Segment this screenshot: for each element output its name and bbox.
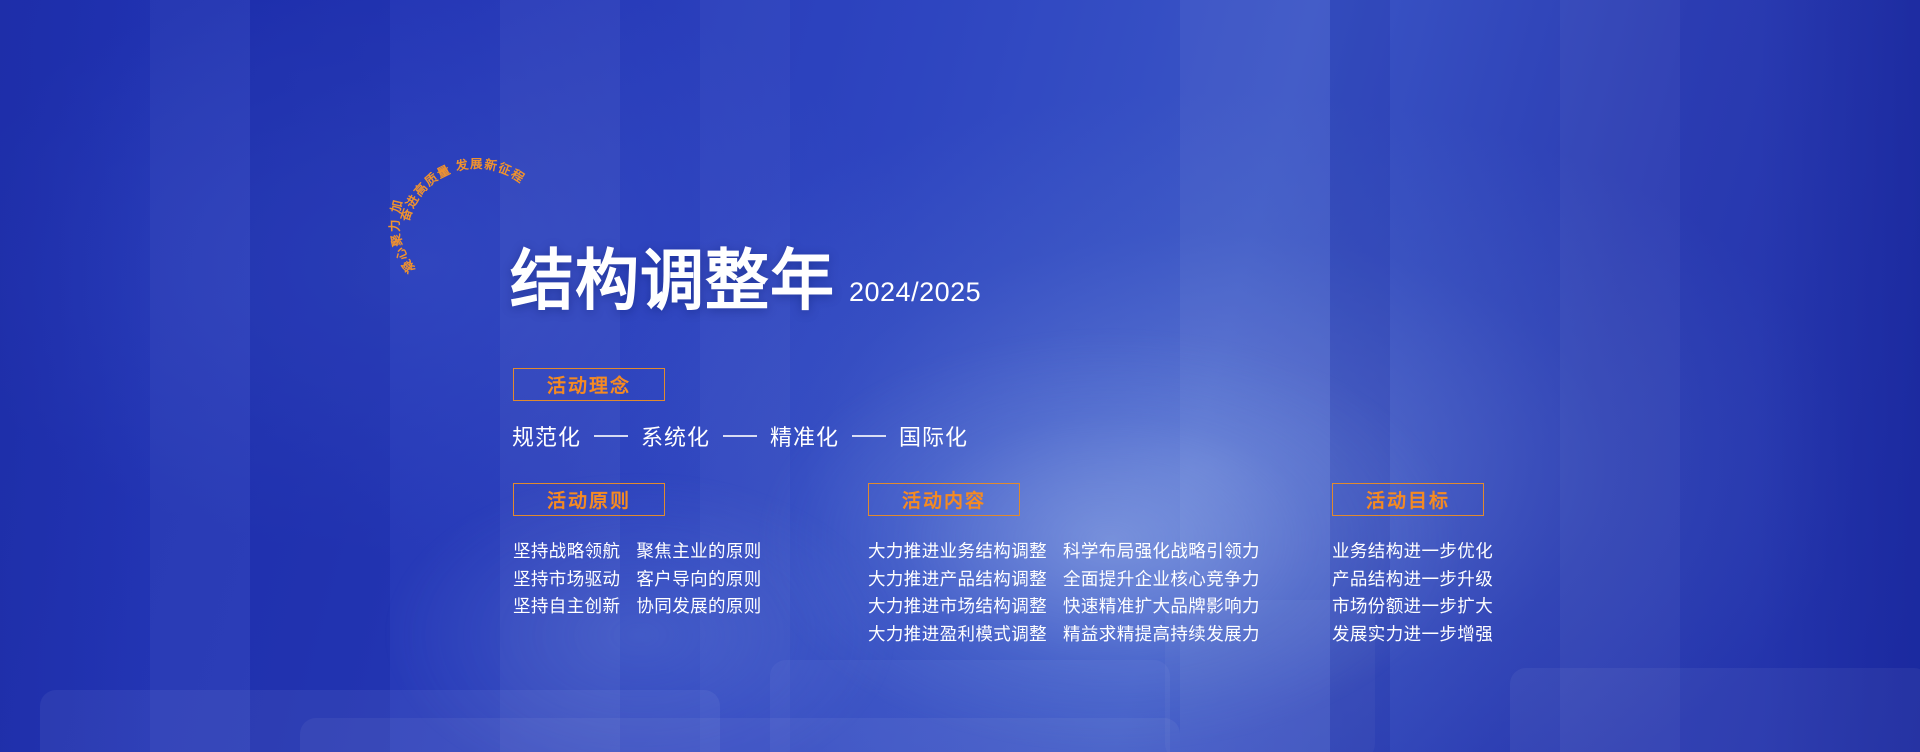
list-item: 坚持自主创新 协同发展的原则 (513, 593, 762, 621)
list-item: 市场份额进一步扩大 (1332, 593, 1493, 621)
list-item: 业务结构进一步优化 (1332, 538, 1493, 566)
row-left: 大力推进市场结构调整 (868, 593, 1047, 621)
goals-rows: 业务结构进一步优化 产品结构进一步升级 市场份额进一步扩大 发展实力进一步增强 (1332, 538, 1493, 648)
row-right: 精益求精提高持续发展力 (1063, 621, 1260, 649)
row-right: 聚焦主业的原则 (636, 538, 761, 566)
row-right: 科学布局强化战略引领力 (1063, 538, 1260, 566)
row-right: 全面提升企业核心竞争力 (1063, 566, 1260, 594)
row-right: 客户导向的原则 (636, 566, 761, 594)
badge-concept: 活动理念 (513, 368, 665, 401)
row-left: 产品结构进一步升级 (1332, 566, 1493, 594)
concept-item-0: 规范化 (512, 420, 581, 452)
concept-item-2: 精准化 (770, 420, 839, 452)
separator-dash (594, 435, 628, 437)
concept-item-3: 国际化 (899, 420, 968, 452)
row-left: 坚持市场驱动 (513, 566, 620, 594)
list-item: 产品结构进一步升级 (1332, 566, 1493, 594)
separator-dash (723, 435, 757, 437)
list-item: 大力推进产品结构调整 全面提升企业核心竞争力 (868, 566, 1260, 594)
page-title: 结构调整年 (510, 247, 835, 314)
list-item: 发展实力进一步增强 (1332, 621, 1493, 649)
row-left: 大力推进产品结构调整 (868, 566, 1047, 594)
concept-keywords: 规范化 系统化 精准化 国际化 (512, 420, 968, 452)
list-item: 坚持市场驱动 客户导向的原则 (513, 566, 762, 594)
column-principles: 活动原则 坚持战略领航 聚焦主业的原则 坚持市场驱动 客户导向的原则 坚持自主创… (513, 483, 762, 621)
row-left: 大力推进业务结构调整 (868, 538, 1047, 566)
principles-rows: 坚持战略领航 聚焦主业的原则 坚持市场驱动 客户导向的原则 坚持自主创新 协同发… (513, 538, 762, 621)
seal-text-top: 奋进高质量 发展新征程 (397, 156, 528, 224)
list-item: 大力推进盈利模式调整 精益求精提高持续发展力 (868, 621, 1260, 649)
title-year: 2024/2025 (849, 277, 981, 308)
badge-contents: 活动内容 (868, 483, 1020, 516)
concept-item-1: 系统化 (641, 420, 710, 452)
row-left: 大力推进盈利模式调整 (868, 621, 1047, 649)
badge-principles: 活动原则 (513, 483, 665, 516)
list-item: 大力推进业务结构调整 科学布局强化战略引领力 (868, 538, 1260, 566)
column-goals: 活动目标 业务结构进一步优化 产品结构进一步升级 市场份额进一步扩大 发展实力进… (1332, 483, 1493, 648)
list-item: 坚持战略领航 聚焦主业的原则 (513, 538, 762, 566)
column-contents: 活动内容 大力推进业务结构调整 科学布局强化战略引领力 大力推进产品结构调整 全… (868, 483, 1260, 648)
list-item: 大力推进市场结构调整 快速精准扩大品牌影响力 (868, 593, 1260, 621)
row-left: 坚持自主创新 (513, 593, 620, 621)
badge-goals: 活动目标 (1332, 483, 1484, 516)
row-right: 快速精准扩大品牌影响力 (1063, 593, 1260, 621)
poster-stage: 奋进高质量 发展新征程 凝心聚力 加快转型 增动能 结构调整年 2024/202… (0, 0, 1920, 752)
row-right: 协同发展的原则 (636, 593, 761, 621)
row-left: 业务结构进一步优化 (1332, 538, 1493, 566)
separator-dash (852, 435, 886, 437)
row-left: 坚持战略领航 (513, 538, 620, 566)
title-row: 结构调整年 2024/2025 (510, 250, 981, 314)
row-left: 发展实力进一步增强 (1332, 621, 1493, 649)
row-left: 市场份额进一步扩大 (1332, 593, 1493, 621)
contents-rows: 大力推进业务结构调整 科学布局强化战略引领力 大力推进产品结构调整 全面提升企业… (868, 538, 1260, 648)
